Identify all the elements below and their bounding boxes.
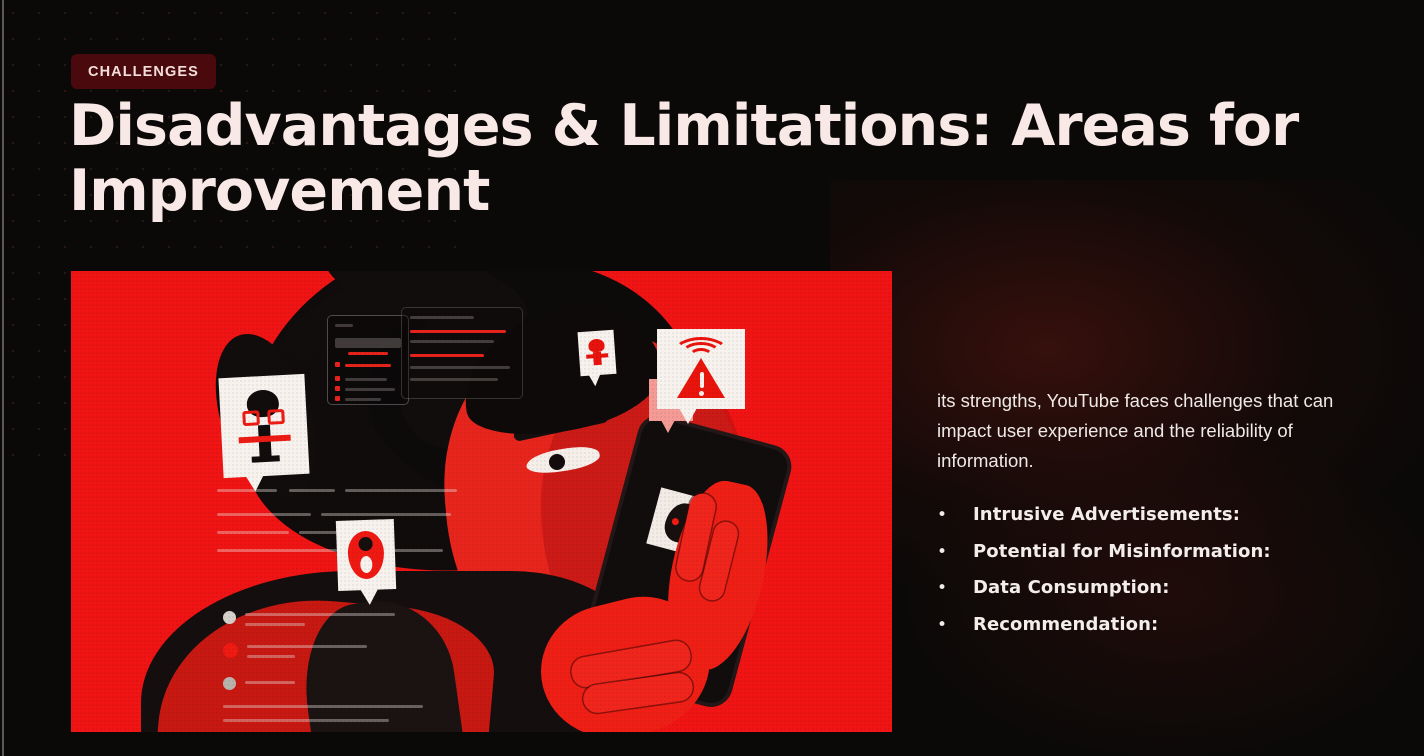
body-paragraph: its strengths, YouTube faces challenges … <box>937 386 1369 476</box>
challenges-list: • Intrusive Advertisements: • Potential … <box>937 500 1369 640</box>
list-item: • Potential for Misinformation: <box>937 537 1369 567</box>
overlay-ui-panel-left <box>327 315 409 405</box>
overlay-ui-panel-right <box>401 307 523 399</box>
list-item: • Recommendation: <box>937 610 1369 640</box>
illustration-artwork: مستقل mostaql.com <box>71 271 892 732</box>
bullet-marker: • <box>937 538 973 567</box>
bullet-marker: • <box>937 501 973 530</box>
section-badge-label: CHALLENGES <box>88 64 199 80</box>
list-item: • Data Consumption: <box>937 573 1369 603</box>
eye-target-card-icon <box>336 519 396 591</box>
warning-broadcast-card-icon <box>657 329 745 409</box>
list-item-label: Recommendation: <box>973 610 1158 639</box>
figure-pupil <box>549 454 565 470</box>
list-item: • Intrusive Advertisements: <box>937 500 1369 530</box>
list-item-label: Potential for Misinformation: <box>973 537 1271 566</box>
nerd-bot-card-icon <box>218 374 309 478</box>
bullet-marker: • <box>937 574 973 603</box>
bullet-marker: • <box>937 611 973 640</box>
list-item-label: Data Consumption: <box>973 573 1170 602</box>
page-title: Disadvantages & Limitations: Areas for I… <box>69 94 1319 224</box>
slide-canvas: CHALLENGES Disadvantages & Limitations: … <box>0 0 1424 756</box>
list-item-label: Intrusive Advertisements: <box>973 500 1240 529</box>
right-content-column: its strengths, YouTube faces challenges … <box>937 386 1369 646</box>
skull-card-icon <box>578 330 617 376</box>
left-scroll-rail[interactable] <box>2 0 4 756</box>
section-badge: CHALLENGES <box>71 54 216 89</box>
illustration-image: مستقل mostaql.com <box>71 271 892 732</box>
